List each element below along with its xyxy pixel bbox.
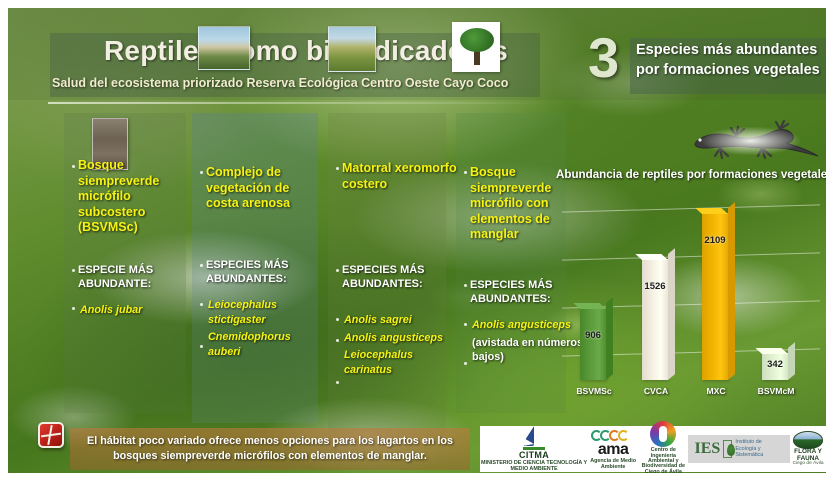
logo-caption: Centro de Ingeniería Ambiental y Biodive… bbox=[638, 448, 688, 473]
chart-bar-top bbox=[695, 208, 728, 214]
logo-citma: CITMA MINISTERIO DE CIENCIA TECNOLOGÍA Y… bbox=[480, 426, 588, 472]
chart-x-label: BSVMcM bbox=[752, 386, 800, 396]
species-item: Leiocephalus carinatus bbox=[344, 348, 456, 377]
chart-bar-value: 906 bbox=[580, 330, 606, 341]
logo-ies: IES Instituto de Ecología y Sistemática bbox=[688, 435, 790, 463]
footer-message-line1: El hábitat poco variado ofrece menos opc… bbox=[87, 435, 453, 447]
chart-bar-side bbox=[606, 297, 613, 380]
logo-ama: ama Agencia de Medio Ambiente bbox=[588, 428, 638, 470]
page-subtitle: Salud del ecosistema priorizado Reserva … bbox=[52, 76, 552, 90]
bullet-icon bbox=[464, 284, 467, 287]
species-item: Anolis angusticeps bbox=[344, 331, 456, 346]
chart-title: Abundancia de reptiles por formaciones v… bbox=[556, 168, 826, 181]
species-item: Anolis jubar bbox=[80, 303, 192, 318]
manglar-thumb bbox=[452, 22, 500, 72]
bullet-icon bbox=[336, 339, 339, 342]
logo-name: CITMA bbox=[480, 451, 588, 460]
logo-cia: Centro de Ingeniería Ambiental y Biodive… bbox=[638, 421, 688, 473]
lizard-photo bbox=[676, 116, 826, 164]
bullet-icon bbox=[464, 323, 467, 326]
species-list: Anolis sagrei Anolis angusticeps Leiocep… bbox=[344, 313, 456, 381]
species-list: Anolis jubar bbox=[80, 303, 192, 321]
chart-bar-side bbox=[728, 202, 735, 380]
chart-bar-top bbox=[755, 348, 788, 354]
chart-bar: 342 bbox=[762, 353, 788, 380]
column-bsvmsc: Bosque siempreverde micrófilo subcostero… bbox=[64, 113, 186, 413]
section-number: 3 bbox=[588, 30, 619, 86]
cia-person-icon bbox=[650, 421, 676, 447]
lizard-glow bbox=[676, 116, 826, 164]
chart-bar-top bbox=[635, 254, 668, 260]
section-title-line2: por formaciones vegetales bbox=[636, 61, 826, 81]
chart-bar-face bbox=[642, 259, 668, 380]
logo-caption: Instituto de Ecología y Sistemática bbox=[735, 439, 784, 459]
chart-bar-value: 342 bbox=[762, 359, 788, 370]
bullet-icon bbox=[336, 269, 339, 272]
header-divider bbox=[48, 102, 544, 104]
column-subheading: ESPECIE MÁS ABUNDANTE: bbox=[78, 263, 190, 292]
bullet-icon bbox=[336, 318, 339, 321]
chart-bar-top bbox=[573, 303, 606, 309]
logo-name: ama bbox=[588, 442, 638, 458]
ama-helix-icon bbox=[591, 428, 635, 442]
footer-message-line2: bosques siempreverde micrófilos con elem… bbox=[113, 450, 427, 462]
flora-fauna-mark-icon bbox=[793, 431, 823, 449]
logo-caption: MINISTERIO DE CIENCIA TECNOLOGÍA Y MEDIO… bbox=[480, 461, 588, 472]
chart-bar: 1526 bbox=[642, 259, 668, 380]
ies-leaf-icon bbox=[723, 440, 732, 458]
bullet-icon bbox=[200, 264, 203, 267]
chart-bar-value: 2109 bbox=[702, 235, 728, 246]
column-heading: Bosque siempreverde micrófilo subcostero… bbox=[78, 158, 196, 236]
column-heading: Complejo de vegetación de costa arenosa bbox=[206, 165, 324, 212]
column-subheading: ESPECIES MÁS ABUNDANTES: bbox=[206, 258, 318, 287]
logo-caption: Ciego de Ávila bbox=[790, 462, 826, 467]
chart-x-label: BSVMSc bbox=[570, 386, 618, 396]
bullet-icon bbox=[200, 303, 203, 306]
chart-bar-face bbox=[580, 308, 606, 380]
costa-arenosa-thumb bbox=[198, 26, 250, 70]
species-item: Leiocephalus stictigaster bbox=[208, 298, 320, 327]
column-subheading: ESPECIES MÁS ABUNDANTES: bbox=[342, 263, 454, 292]
column-cvca: Complejo de vegetación de costa arenosa … bbox=[192, 113, 318, 423]
column-heading: Matorral xeromorfo costero bbox=[342, 161, 460, 192]
logo-caption: Agencia de Medio Ambiente bbox=[588, 459, 638, 470]
logo-strip: CITMA MINISTERIO DE CIENCIA TECNOLOGÍA Y… bbox=[480, 426, 826, 472]
chart-gridline bbox=[562, 204, 820, 212]
logo-flora-fauna: FLORA Y FAUNA Ciego de Ávila bbox=[790, 431, 826, 467]
species-item: Cnemidophorus auberi bbox=[208, 330, 320, 359]
infographic-poster: Reptiles como bioindicadores Salud del e… bbox=[8, 8, 826, 473]
bullet-icon bbox=[464, 362, 467, 365]
chart-bar: 906 bbox=[580, 308, 606, 380]
bullet-icon bbox=[72, 165, 75, 168]
chart-x-label: CVCA bbox=[632, 386, 680, 396]
species-list: Leiocephalus stictigaster Cnemidophorus … bbox=[208, 298, 320, 363]
chart-bar-side bbox=[668, 248, 675, 380]
chart-bar-side bbox=[788, 342, 795, 380]
bullet-icon bbox=[72, 269, 75, 272]
bullet-icon bbox=[72, 307, 75, 310]
bullet-icon bbox=[336, 167, 339, 170]
species-item: Anolis sagrei bbox=[344, 313, 456, 328]
chart-x-label: MXC bbox=[692, 386, 740, 396]
red-cube-icon bbox=[38, 422, 64, 448]
chart-bar-value: 1526 bbox=[642, 281, 668, 292]
bullet-icon bbox=[336, 381, 339, 384]
citma-mark-icon bbox=[521, 426, 547, 446]
matorral-xeromorfo-thumb bbox=[328, 26, 376, 72]
bullet-icon bbox=[200, 171, 203, 174]
column-mxc: Matorral xeromorfo costero ESPECIES MÁS … bbox=[328, 113, 446, 443]
footer-message: El hábitat poco variado ofrece menos opc… bbox=[74, 434, 466, 464]
chart-gridline bbox=[562, 252, 820, 260]
chart-plot-area: 906BSVMSc1526CVCA2109MXC342BSVMcM bbox=[562, 190, 824, 380]
logo-name: IES bbox=[694, 441, 720, 457]
bullet-icon bbox=[200, 345, 203, 348]
section-title-line1: Especies más abundantes bbox=[636, 41, 826, 61]
bullet-icon bbox=[464, 171, 467, 174]
chart-bar: 2109 bbox=[702, 213, 728, 380]
abundance-chart: Abundancia de reptiles por formaciones v… bbox=[548, 158, 826, 406]
section-title: Especies más abundantes por formaciones … bbox=[636, 41, 826, 80]
